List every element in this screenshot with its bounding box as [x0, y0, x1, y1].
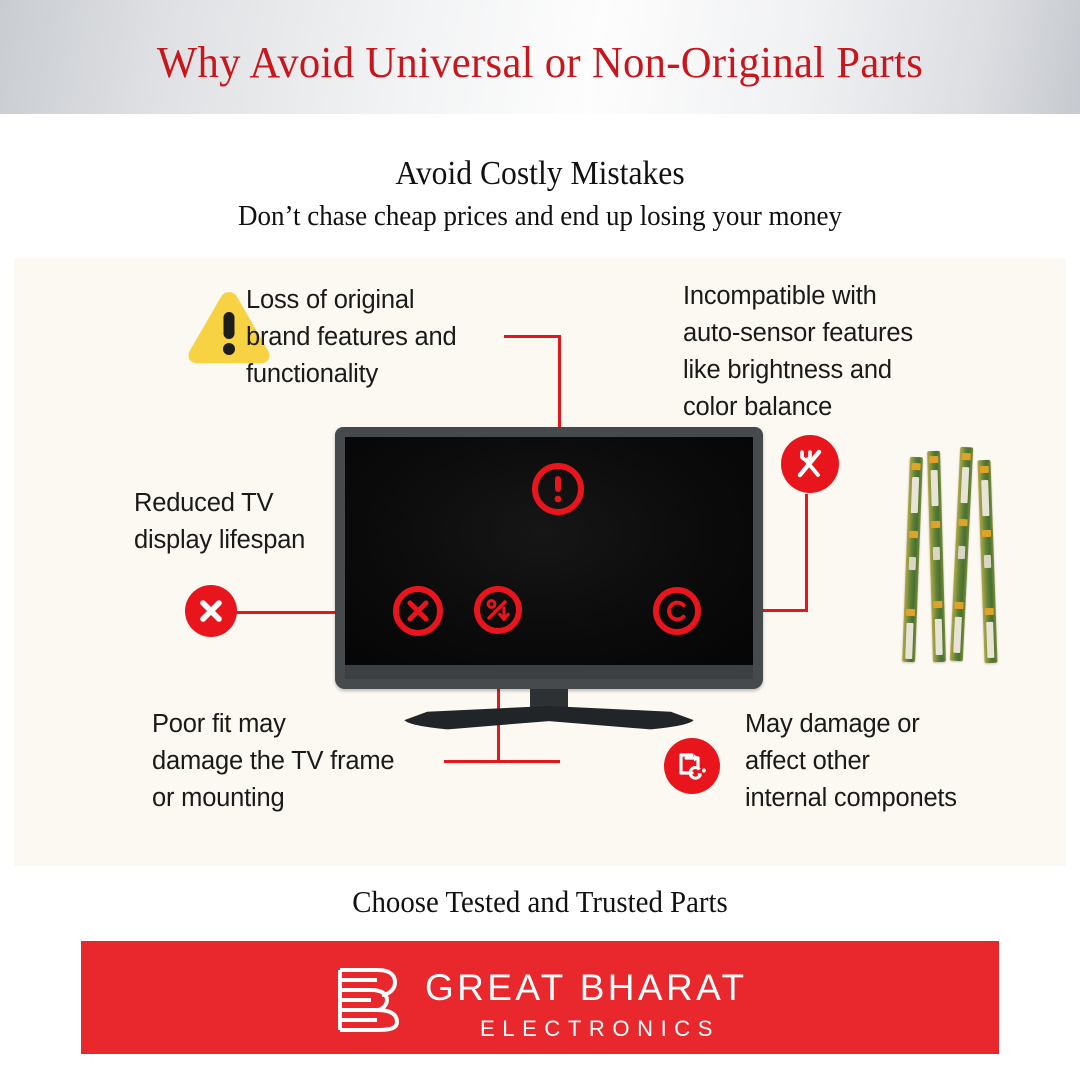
callout-internal-damage: May damage or affect other internal comp… [745, 706, 957, 817]
cycle-circle-icon [653, 587, 701, 635]
connector-poor-fit-horizontal [444, 760, 560, 763]
callout-line: Loss of original [246, 282, 456, 319]
led-chip [909, 557, 916, 570]
led-connector [935, 619, 943, 655]
page-title: Why Avoid Universal or Non-Original Part… [16, 37, 1064, 88]
tagline: Don’t chase cheap prices and end up losi… [38, 200, 1042, 233]
x-glyph [197, 597, 225, 625]
cycle-glyph [664, 598, 690, 624]
callout-reduced-lifespan: Reduced TV display lifespan [134, 485, 305, 559]
callout-line: Poor fit may [152, 706, 394, 743]
led-pad [958, 519, 967, 526]
percent-down-glyph [485, 597, 511, 623]
x-circle-outline-icon [393, 586, 443, 636]
callout-line: functionality [246, 356, 456, 393]
callout-line: damage the TV frame [152, 743, 394, 780]
led-connector [981, 480, 989, 516]
led-pad [911, 463, 920, 470]
led-connector [953, 617, 962, 653]
x-glyph [405, 598, 431, 624]
led-connector [960, 467, 969, 503]
callout-incompatible-sensors: Incompatible with auto-sensor features l… [683, 278, 913, 426]
led-pad [931, 521, 940, 528]
exclamation-circle-icon [532, 463, 584, 515]
callout-line: like brightness and [683, 352, 913, 389]
subtitle: Avoid Costly Mistakes [38, 155, 1042, 193]
tv-chin [345, 665, 753, 679]
callout-loss-of-features: Loss of original brand features and func… [246, 282, 456, 393]
callout-line: affect other [745, 743, 957, 780]
led-connector [931, 470, 939, 506]
callout-line: or mounting [152, 780, 394, 817]
callout-line: brand features and [246, 319, 456, 356]
callout-line: May damage or [745, 706, 957, 743]
led-chip [933, 547, 940, 560]
led-pad [985, 608, 994, 615]
led-connector [911, 477, 919, 513]
brand-name: GREAT BHARAT [425, 967, 747, 1009]
tool-crossed-icon [781, 435, 839, 493]
led-pad [962, 453, 971, 460]
led-pad [980, 466, 989, 473]
exit-arrow-glyph [675, 749, 709, 783]
led-pad [909, 531, 918, 538]
callout-line: Incompatible with [683, 278, 913, 315]
brand-logo-icon [337, 963, 403, 1035]
led-pad [954, 602, 963, 609]
callout-poor-fit: Poor fit may damage the TV frame or moun… [152, 706, 394, 817]
callout-line: internal componets [745, 780, 957, 817]
led-connector [986, 622, 994, 658]
exit-arrow-circle-icon [664, 738, 720, 794]
callout-line: display lifespan [134, 522, 305, 559]
led-pad [929, 456, 938, 463]
led-chip [984, 555, 991, 568]
infographic-page: Why Avoid Universal or Non-Original Part… [0, 0, 1080, 1080]
led-connector [905, 623, 913, 659]
x-circle-icon [185, 585, 237, 637]
exclamation-glyph [549, 474, 567, 504]
callout-line: color balance [683, 389, 913, 426]
connector-loss-of-features-horizontal [504, 335, 561, 338]
percent-down-circle-icon [474, 586, 522, 634]
led-pad [982, 530, 991, 537]
brand-subtitle: ELECTRONICS [480, 1016, 720, 1042]
footer-tagline: Choose Tested and Trusted Parts [38, 884, 1042, 920]
connector-incompatible-vertical [805, 494, 808, 612]
led-pad [906, 609, 915, 616]
led-chip [958, 546, 966, 559]
callout-line: Reduced TV [134, 485, 305, 522]
callout-line: auto-sensor features [683, 315, 913, 352]
led-pad [933, 601, 942, 608]
wrench-crossed-glyph [792, 446, 828, 482]
